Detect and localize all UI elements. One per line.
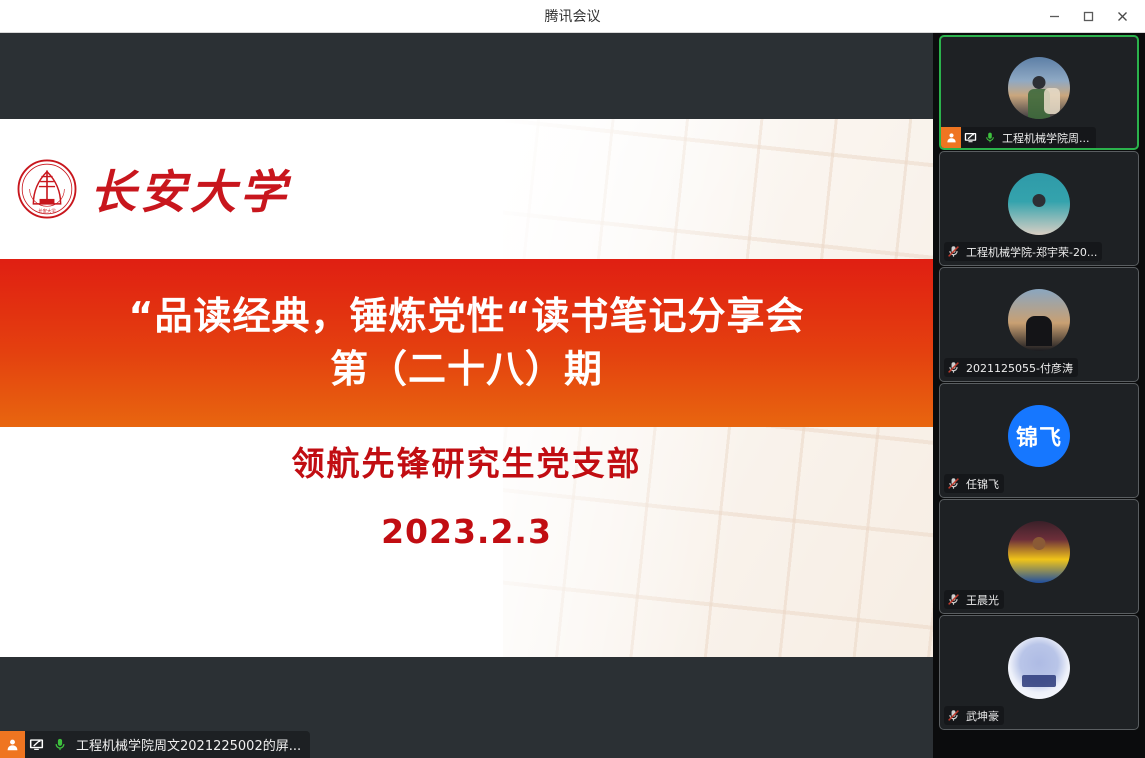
university-seal-icon: 长安大学 <box>16 158 78 220</box>
avatar: 锦飞 <box>1008 405 1070 467</box>
participant-tile[interactable]: 王晨光 <box>939 499 1139 614</box>
sharer-name: 工程机械学院周文2021225002的屏... <box>76 735 301 754</box>
slide-logo-row: 长安大学 长安大学 <box>0 119 933 259</box>
participant-tile[interactable]: 武坤豪 <box>939 615 1139 730</box>
host-icon <box>0 731 25 758</box>
meeting-window: 长安大学 长安大学 “品读经典，锤炼党性“读书笔记分享会 第（二十八）期 领航先… <box>0 33 1145 758</box>
minimize-button[interactable] <box>1037 0 1071 33</box>
avatar-initials: 锦飞 <box>1008 405 1070 467</box>
avatar <box>1008 521 1070 583</box>
microphone-on-icon <box>48 731 71 758</box>
microphone-muted-icon <box>944 590 963 609</box>
maximize-button[interactable] <box>1071 0 1105 33</box>
presentation-slide: 长安大学 长安大学 “品读经典，锤炼党性“读书笔记分享会 第（二十八）期 领航先… <box>0 119 933 657</box>
microphone-muted-icon <box>944 474 963 493</box>
microphone-on-icon <box>980 128 999 147</box>
participant-label: 王晨光 <box>944 590 1004 609</box>
participant-name: 王晨光 <box>966 592 999 608</box>
participant-label: 武坤豪 <box>944 706 1004 725</box>
slide-date: 2023.2.3 <box>0 507 933 557</box>
university-name: 长安大学 <box>90 156 290 222</box>
microphone-muted-icon <box>944 242 963 261</box>
participant-tile[interactable]: 2021125055-付彦涛 <box>939 267 1139 382</box>
close-button[interactable] <box>1105 0 1139 33</box>
participant-tile[interactable]: 工程机械学院-郑宇荣-20... <box>939 151 1139 266</box>
shared-screen-stage[interactable]: 长安大学 长安大学 “品读经典，锤炼党性“读书笔记分享会 第（二十八）期 领航先… <box>0 33 933 758</box>
host-icon <box>941 127 961 148</box>
window-title: 腾讯会议 <box>0 0 1145 33</box>
avatar <box>1008 173 1070 235</box>
screen-share-icon <box>25 731 48 758</box>
microphone-muted-icon <box>944 706 963 725</box>
share-status-bar: 工程机械学院周文2021225002的屏... <box>0 731 933 758</box>
participant-tile[interactable]: 工程机械学院周... <box>939 35 1139 150</box>
participant-label: 2021125055-付彦涛 <box>944 358 1078 377</box>
sharer-chip: 工程机械学院周文2021225002的屏... <box>0 731 310 758</box>
participant-name: 武坤豪 <box>966 708 999 724</box>
slide-title-banner: “品读经典，锤炼党性“读书笔记分享会 第（二十八）期 <box>0 259 933 427</box>
window-controls <box>1037 0 1139 33</box>
microphone-muted-icon <box>944 358 963 377</box>
banner-title-line-2: 第（二十八）期 <box>330 346 603 394</box>
svg-text:长安大学: 长安大学 <box>38 208 56 215</box>
participant-tile[interactable]: 锦飞 任锦飞 <box>939 383 1139 498</box>
banner-title-line-1: “品读经典，锤炼党性“读书笔记分享会 <box>129 293 805 341</box>
participant-name: 工程机械学院-郑宇荣-20... <box>966 244 1097 260</box>
participant-label: 工程机械学院-郑宇荣-20... <box>944 242 1102 261</box>
organization-name: 领航先锋研究生党支部 <box>0 439 933 489</box>
window-titlebar: 腾讯会议 <box>0 0 1145 33</box>
participant-label: 任锦飞 <box>944 474 1004 493</box>
avatar <box>1008 289 1070 351</box>
slide-subtitle-block: 领航先锋研究生党支部 2023.2.3 <box>0 439 933 556</box>
participants-rail[interactable]: 工程机械学院周... 工程机械学院-郑宇荣-20... <box>933 33 1145 758</box>
screen-share-icon <box>961 128 980 147</box>
avatar <box>1008 57 1070 119</box>
avatar <box>1008 637 1070 699</box>
participant-label: 工程机械学院周... <box>941 127 1096 148</box>
participant-name: 2021125055-付彦涛 <box>966 360 1073 376</box>
participant-name: 工程机械学院周... <box>1002 130 1090 146</box>
participant-name: 任锦飞 <box>966 476 999 492</box>
